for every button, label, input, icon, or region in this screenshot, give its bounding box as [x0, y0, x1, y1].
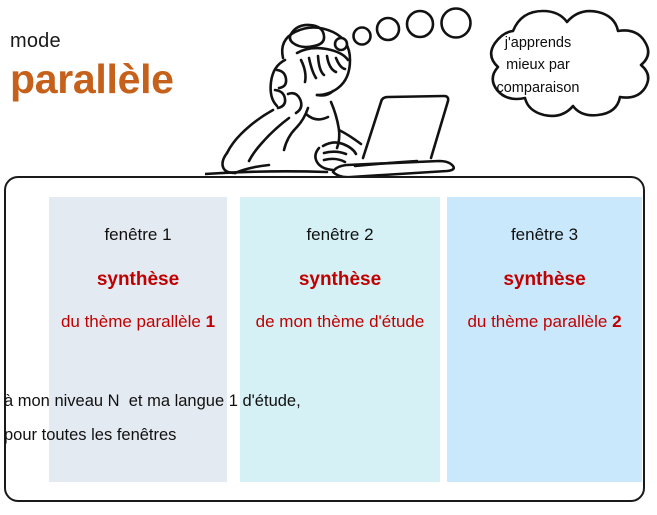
thought-bubble-line-2: mieux par — [468, 54, 608, 76]
slide-canvas: mode parallèle — [0, 0, 657, 515]
window-column-1-description-emphasis: 1 — [206, 312, 215, 331]
panel-footer-line-2: pour toutes les fenêtres — [4, 426, 645, 444]
window-column-2-synthesis: synthèse — [240, 269, 440, 292]
window-column-2-description: de mon thème d'étude — [240, 310, 440, 335]
windows-columns: fenêtre 1 synthèse du thème parallèle 1 … — [4, 176, 645, 502]
window-column-1-header: fenêtre 1 — [49, 225, 227, 245]
window-column-1-description: du thème parallèle 1 — [49, 310, 227, 335]
thought-bubble-line-1: j'apprends — [468, 32, 608, 54]
window-column-3-description: du thème parallèle 2 — [447, 310, 642, 335]
window-column-2-description-emphasis: d'étude — [369, 312, 424, 331]
window-column-2-header: fenêtre 2 — [240, 225, 440, 245]
window-column-3-synthesis: synthèse — [447, 269, 642, 292]
thought-dot-2 — [354, 28, 371, 45]
panel-footer-line-1: à mon niveau N et ma langue 1 d'étude, — [4, 392, 645, 410]
window-column-3-description-emphasis: 2 — [612, 312, 621, 331]
thought-dot-4 — [407, 11, 433, 37]
window-column-1-description-text: du thème parallèle — [61, 312, 201, 331]
thought-bubble-text: j'apprends mieux par comparaison — [468, 32, 608, 99]
window-column-3-description-text: du thème parallèle — [467, 312, 607, 331]
window-column-2-description-text: de mon thème — [256, 312, 365, 331]
window-column-1-synthesis: synthèse — [49, 269, 227, 292]
thought-bubble-line-3: comparaison — [468, 77, 608, 99]
thought-dot-1 — [335, 38, 347, 50]
window-column-3-header: fenêtre 3 — [447, 225, 642, 245]
thought-dot-5 — [442, 9, 471, 38]
thought-dot-3 — [377, 18, 399, 40]
